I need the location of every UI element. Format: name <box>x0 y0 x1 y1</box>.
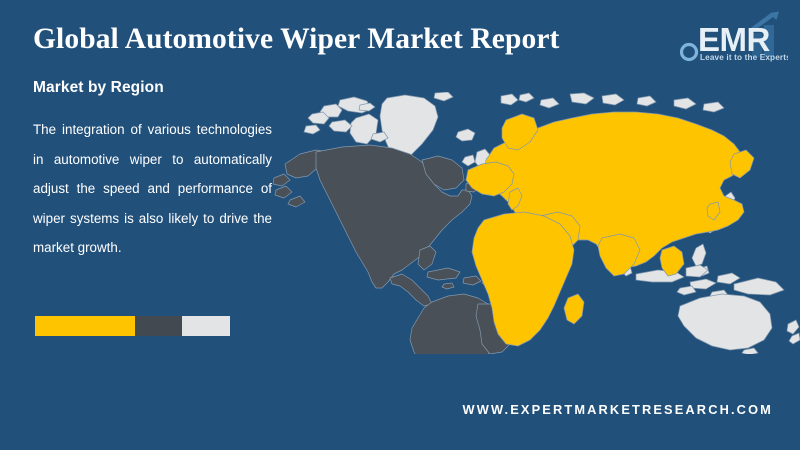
legend-swatch-tertiary-region <box>182 316 230 336</box>
slide-canvas: Global Automotive Wiper Market Report Ma… <box>0 0 800 450</box>
body-paragraph: The integration of various technologies … <box>33 115 272 263</box>
logo-ring-icon <box>682 45 697 60</box>
map-legend <box>35 316 230 336</box>
world-map <box>272 92 800 354</box>
legend-swatch-highlighted-region <box>35 316 135 336</box>
logo-tagline: Leave it to the Experts! <box>700 53 788 62</box>
emr-logo: EMR Leave it to the Experts! <box>676 11 788 67</box>
section-subtitle: Market by Region <box>33 78 164 98</box>
footer-website-url: WWW.EXPERTMARKETRESEARCH.COM <box>463 402 773 417</box>
page-title: Global Automotive Wiper Market Report <box>33 22 673 56</box>
legend-swatch-secondary-region <box>135 316 182 336</box>
